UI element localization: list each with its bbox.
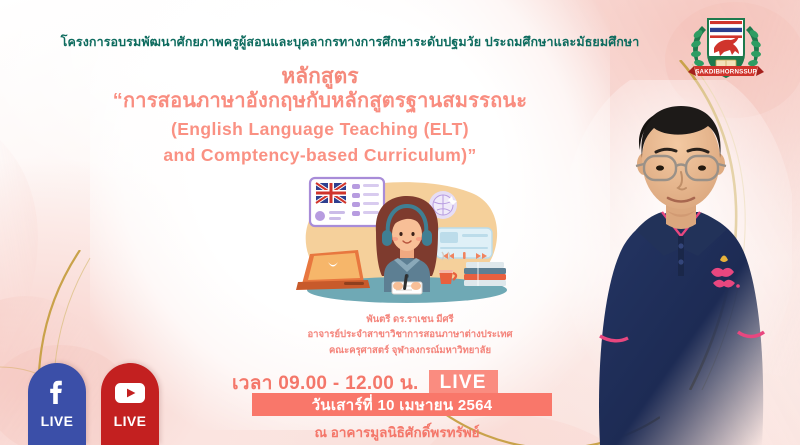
schedule-venue: ณ อาคารมูลนิธิศักดิ์พรทรัพย์: [232, 421, 562, 443]
schedule-date: วันเสาร์ที่ 10 เมษายน 2564: [312, 393, 493, 417]
facebook-icon: [40, 375, 74, 409]
online-english-learning-illustration: [288, 172, 526, 307]
audio-player-card: [436, 228, 492, 259]
speaker-position: อาจารย์ประจำสาขาวิชาการสอนภาษาต่างประเทศ: [230, 327, 590, 342]
uk-flag-card: [310, 178, 384, 226]
books-stack: [464, 262, 506, 286]
poster-canvas: โครงการอบรมพัฒนาศักยภาพครูผู้สอนและบุคลา…: [0, 0, 800, 445]
schedule-date-bar: วันเสาร์ที่ 10 เมษายน 2564: [252, 393, 552, 416]
program-header-text: โครงการอบรมพัฒนาศักยภาพครูผู้สอนและบุคลา…: [0, 32, 800, 52]
course-title-thai: “การสอนภาษาอังกฤษกับหลักสูตรฐานสมรรถนะ: [0, 88, 640, 115]
course-title-english-1: (English Language Teaching (ELT): [0, 118, 640, 141]
youtube-live-label: LIVE: [114, 413, 147, 429]
youtube-live-button[interactable]: LIVE: [101, 363, 159, 445]
speaker-name: พันตรี ดร.ราเชน มีศรี: [230, 312, 590, 327]
sakdibhornssup-crest-logo: SAKDIBHORNSSUP: [684, 6, 768, 90]
facebook-live-button[interactable]: LIVE: [28, 363, 86, 445]
woman-with-headphones: [376, 196, 438, 294]
course-title-english-2: and Comptency-based Curriculum)”: [0, 144, 640, 167]
facebook-live-label: LIVE: [41, 413, 74, 429]
social-live-buttons: LIVE LIVE: [28, 363, 159, 445]
presenter-photo: [570, 80, 792, 445]
laptop: [296, 250, 370, 290]
crest-ribbon-text: SAKDIBHORNSSUP: [695, 68, 757, 75]
youtube-icon: [113, 375, 147, 409]
speaker-faculty: คณะครุศาสตร์ จุฬาลงกรณ์มหาวิทยาลัย: [230, 343, 590, 358]
speaker-credit-block: พันตรี ดร.ราเชน มีศรี อาจารย์ประจำสาขาวิ…: [230, 312, 590, 358]
